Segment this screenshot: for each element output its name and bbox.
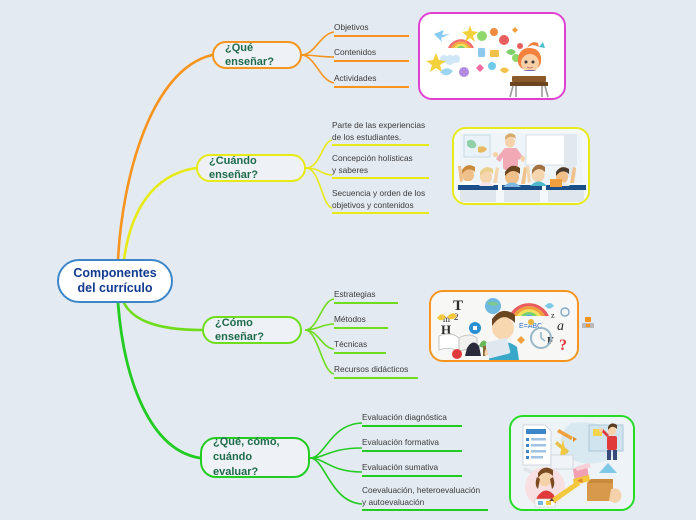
leaf-recursos-didacticos[interactable]: Recursos didácticos	[334, 364, 418, 379]
branch-label-cuando-ensenar: ¿Cuándo enseñar?	[209, 154, 293, 182]
image-card-que-ensenar[interactable]	[418, 12, 566, 100]
branch-label-como-ensenar: ¿Cómo enseñar?	[215, 316, 289, 344]
classroom-students-raising-hands-image	[454, 129, 588, 203]
svg-text:a: a	[557, 319, 564, 334]
leaf-objetivos[interactable]: Objetivos	[334, 22, 409, 37]
branch-node-evaluar[interactable]: ¿Qué, cómo, cuándo evaluar?	[200, 437, 310, 478]
branch-node-como-ensenar[interactable]: ¿Cómo enseñar?	[202, 316, 302, 344]
leaf-estrategias[interactable]: Estrategias	[334, 289, 398, 304]
leaf-actividades[interactable]: Actividades	[334, 73, 409, 88]
branch-label-evaluar-line1: ¿Qué, cómo, cuándo	[213, 435, 297, 465]
branch-label-que-ensenar: ¿Qué enseñar?	[225, 41, 289, 69]
image-card-como-ensenar[interactable]: T m 2 H z a F ? E=ABC	[429, 290, 579, 362]
image-card-cuando-ensenar[interactable]	[452, 127, 590, 205]
leaf-concepcion-holisticas[interactable]: Concepción holísticas y saberes	[332, 153, 429, 179]
root-label-line1: Componentes	[73, 266, 156, 281]
evaluation-collage-image	[511, 417, 633, 509]
svg-text:z: z	[551, 311, 555, 320]
svg-text:?: ?	[559, 337, 567, 354]
leaf-parte-experiencias[interactable]: Parte de las experiencias de los estudia…	[332, 120, 429, 146]
boy-reading-imagination-image	[420, 14, 564, 98]
attachment-marker-icon[interactable]	[581, 316, 595, 330]
branch-label-evaluar-line2: evaluar?	[213, 465, 297, 480]
leaf-metodos[interactable]: Métodos	[334, 314, 388, 329]
mindmap-canvas: Componentes del currículo ¿Qué enseñar? …	[0, 0, 696, 520]
branch-node-que-ensenar[interactable]: ¿Qué enseñar?	[212, 41, 302, 69]
leaf-evaluacion-sumativa[interactable]: Evaluación sumativa	[362, 462, 462, 477]
leaf-evaluacion-formativa[interactable]: Evaluación formativa	[362, 437, 462, 452]
leaf-secuencia-orden[interactable]: Secuencia y orden de los objetivos y con…	[332, 188, 429, 214]
child-learning-symbols-image: T m 2 H z a F ? E=ABC	[431, 292, 577, 360]
leaf-tecnicas[interactable]: Técnicas	[334, 339, 386, 354]
leaf-coevaluacion[interactable]: Coevaluación, heteroevaluación y autoeva…	[362, 485, 488, 511]
image-card-evaluar[interactable]	[509, 415, 635, 511]
leaf-evaluacion-diagnostica[interactable]: Evaluación diagnóstica	[362, 412, 462, 427]
root-node[interactable]: Componentes del currículo	[57, 259, 173, 303]
root-label-line2: del currículo	[73, 281, 156, 296]
branch-node-cuando-ensenar[interactable]: ¿Cuándo enseñar?	[196, 154, 306, 182]
leaf-contenidos[interactable]: Contenidos	[334, 47, 409, 62]
